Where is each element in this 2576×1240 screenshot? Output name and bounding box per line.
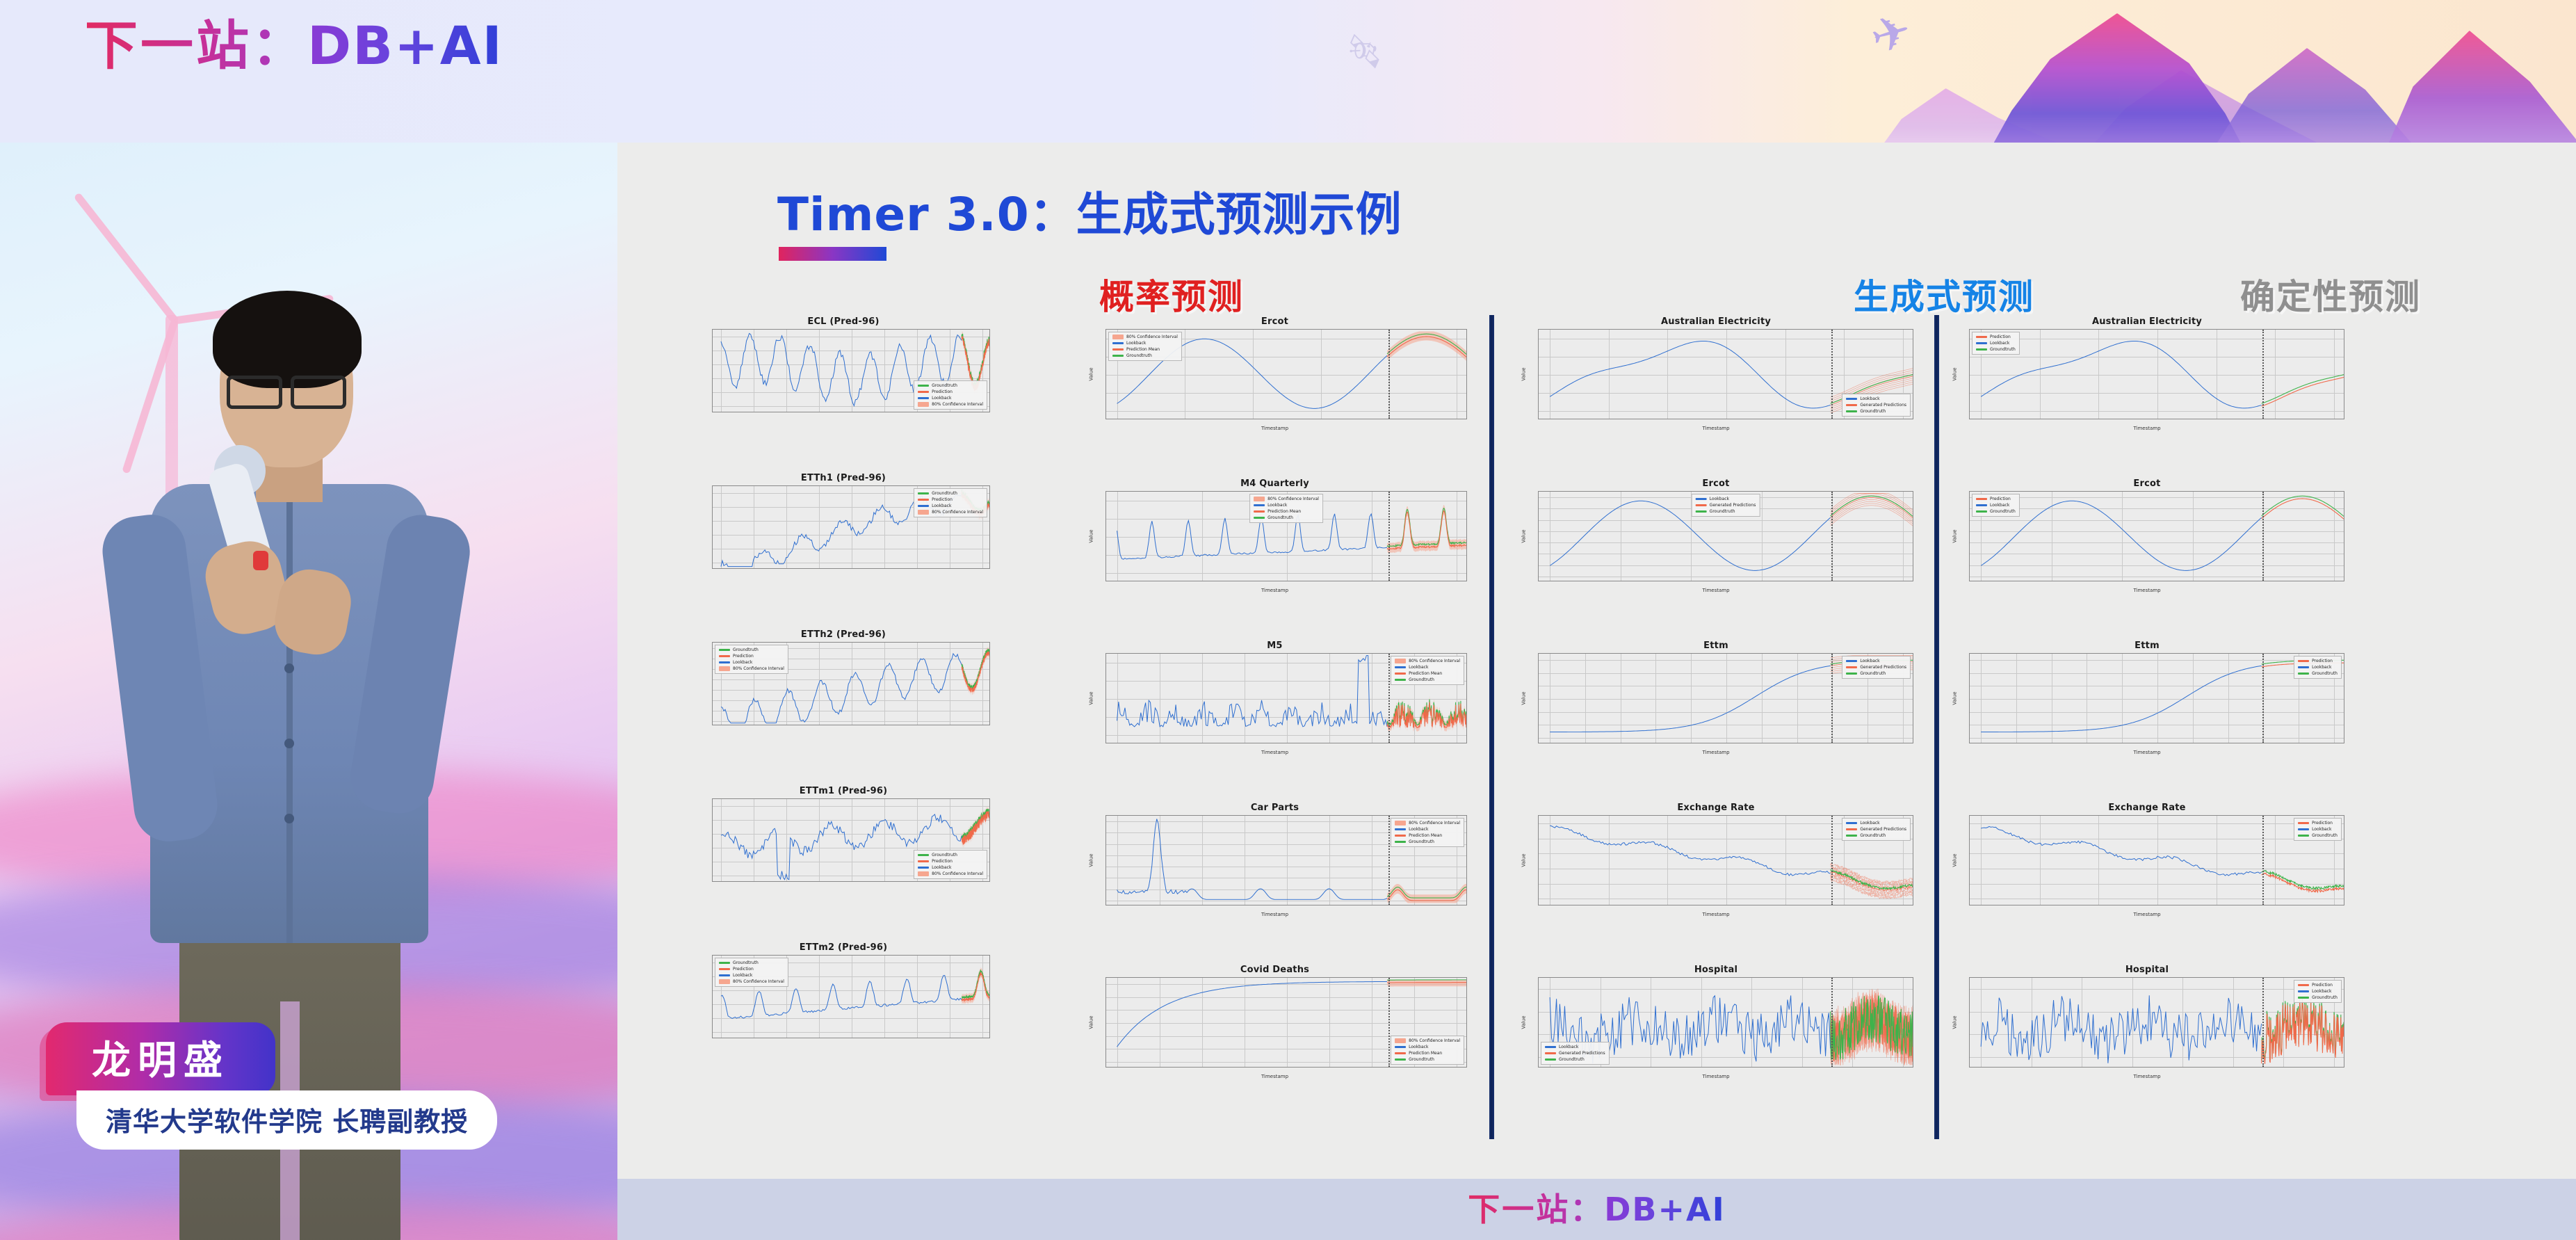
legend-label: Groundtruth [1559, 1057, 1585, 1062]
legend-entry: 80% Confidence Interval [918, 871, 983, 876]
legend-entry: Prediction [1976, 497, 2016, 501]
y-axis-label: Value [1089, 367, 1094, 380]
chart-card: Hospital1015202501-01 0001-01 1201-02 00… [1514, 965, 1918, 1079]
legend-label: Groundtruth [1860, 833, 1886, 838]
legend-entry: Groundtruth [1696, 509, 1756, 514]
legend-swatch [1976, 348, 1987, 351]
legend-entry: Prediction Mean [1112, 347, 1178, 352]
forecast-cutoff-line [2262, 330, 2264, 419]
chart-card: ECL (Pred-96)250027503000325035003750020… [694, 316, 993, 419]
legend-swatch [1112, 342, 1124, 344]
legend-swatch [2298, 997, 2309, 999]
legend-entry: Groundtruth [918, 383, 983, 388]
legend-swatch [1696, 510, 1707, 513]
forecast-cutoff-line [2262, 654, 2264, 743]
groundtruth-line [2262, 375, 2344, 403]
mountain-decoration [1988, 13, 2246, 143]
legend-label: Prediction [733, 654, 754, 659]
legend-entry: Lookback [719, 660, 784, 665]
legend-entry: Lookback [2298, 989, 2338, 994]
presentation-slide: Timer 3.0：生成式预测示例 概率预测 生成式预测 确定性预测 ECL (… [617, 143, 2576, 1179]
glasses-icon [227, 376, 346, 403]
lookback-line [1981, 501, 2262, 570]
generated-prediction-line [1831, 864, 1913, 883]
chart-plot-area: 3500400045005000550003-30 0003-30 1203-3… [1969, 329, 2344, 419]
legend-entry: Prediction [2298, 983, 2338, 988]
legend-label: Generated Predictions [1559, 1051, 1605, 1056]
legend-label: Lookback [1409, 665, 1428, 670]
legend-label: Groundtruth [2312, 671, 2338, 676]
legend-entry: Lookback [1976, 341, 2016, 346]
chart-plot-area: 024681012141998-011998-071999-011999-072… [1105, 815, 1467, 905]
legend-swatch [1254, 497, 1265, 501]
chart-title: ETTm2 (Pred-96) [694, 942, 993, 953]
axis-spacer [694, 882, 993, 888]
legend-label: 80% Confidence Interval [932, 871, 983, 876]
chart-legend: 80% Confidence IntervalLookbackPredictio… [1391, 1036, 1464, 1065]
prediction-line [2262, 378, 2344, 406]
y-axis-label: Value [1952, 853, 1958, 867]
legend-entry: Generated Predictions [1846, 827, 1906, 832]
forecast-cutoff-line [2262, 492, 2264, 581]
legend-label: 80% Confidence Interval [733, 666, 784, 671]
legend-entry: Lookback [1846, 396, 1906, 401]
x-axis-label: Timestamp [1945, 750, 2349, 755]
x-axis-label: Timestamp [1082, 750, 1468, 755]
legend-label: 80% Confidence Interval [1409, 659, 1460, 663]
chart-legend: PredictionLookbackGroundtruth [2294, 656, 2342, 679]
chart-title: Hospital [1945, 965, 2349, 975]
x-axis-label: Timestamp [1082, 1074, 1468, 1079]
legend-swatch [1696, 504, 1707, 506]
legend-entry: Groundtruth [1112, 353, 1178, 358]
legend-label: Lookback [1710, 497, 1729, 501]
chart-plot-area: 12000140001600018000200002021-08-272021-… [1105, 329, 1467, 419]
chart-column-prob-ett: ECL (Pred-96)250027503000325035003750020… [694, 316, 993, 1144]
legend-entry: Groundtruth [1395, 1057, 1460, 1062]
prediction-line [2262, 873, 2344, 892]
chart-plot-area: 051015202016-02-152016-03-012016-03-1520… [1105, 653, 1467, 743]
chart-plot-area: 2025303540450200400600800100012001400160… [712, 485, 990, 569]
legend-entry: Prediction Mean [1395, 1051, 1460, 1056]
chart-legend: GroundtruthPredictionLookback80% Confide… [914, 380, 987, 410]
chart-card: Ercot12000140001600018000200002021-08-27… [1082, 316, 1468, 431]
forecast-cutoff-line [1388, 492, 1390, 581]
chart-title: Australian Electricity [1514, 316, 1918, 327]
legend-swatch [1545, 1052, 1556, 1054]
legend-label: Prediction Mean [1409, 671, 1442, 676]
legend-label: Lookback [733, 973, 752, 978]
groundtruth-line [2262, 496, 2344, 516]
chart-legend: 80% Confidence IntervalLookbackPredictio… [1108, 332, 1182, 361]
brand-logo-cn: 下一站： [85, 15, 307, 77]
column-heading-deterministic: 确定性预测 [2240, 269, 2421, 319]
chart-card: Ettm35.037.540.042.545.047.550.006-24 21… [1945, 641, 2349, 755]
x-axis-label: Timestamp [1514, 588, 1918, 593]
legend-swatch [1846, 404, 1857, 406]
chart-legend: GroundtruthPredictionLookback80% Confide… [715, 645, 788, 674]
legend-label: 80% Confidence Interval [1267, 497, 1319, 501]
legend-entry: Lookback [1976, 503, 2016, 508]
chart-plot-area: 5001000150020002500200020042008201220168… [1105, 491, 1467, 581]
legend-entry: Prediction [2298, 821, 2338, 826]
mountain-decoration [2211, 48, 2420, 143]
legend-swatch [719, 661, 730, 663]
y-axis-label: Value [1952, 691, 1958, 704]
satellite-icon: 🛰 [1334, 26, 1398, 90]
axis-spacer [694, 725, 993, 732]
legend-label: Groundtruth [733, 647, 759, 652]
footer-bar: 下一站：DB+AI [617, 1179, 2576, 1240]
chart-series-layer [1970, 492, 2344, 581]
legend-label: 80% Confidence Interval [1409, 821, 1460, 826]
chart-legend: LookbackGenerated PredictionsGroundtruth [1541, 1042, 1610, 1065]
legend-entry: Lookback [918, 865, 983, 870]
legend-swatch [2298, 660, 2309, 662]
y-axis-label: Value [1952, 1015, 1958, 1029]
forecast-cutoff-line [1831, 330, 1833, 419]
legend-label: Prediction Mean [1409, 1051, 1442, 1056]
legend-swatch [719, 962, 730, 964]
legend-swatch [918, 505, 929, 507]
chart-title: Car Parts [1082, 803, 1468, 813]
mountain-decoration [2385, 31, 2576, 143]
legend-swatch [1254, 504, 1265, 506]
chart-series-layer [1970, 978, 2344, 1067]
chart-card: Australian Electricity350040004500500055… [1945, 316, 2349, 431]
chart-legend: LookbackGenerated PredictionsGroundtruth [1842, 656, 1911, 679]
legend-swatch [2298, 828, 2309, 830]
legend-label: Groundtruth [1409, 677, 1434, 682]
chart-title: Ercot [1082, 316, 1468, 327]
chart-title: Exchange Rate [1514, 803, 1918, 813]
chart-legend: LookbackGenerated PredictionsGroundtruth [1842, 818, 1911, 841]
legend-label: Prediction [2312, 659, 2333, 663]
legend-entry: Lookback [918, 396, 983, 401]
legend-entry: Groundtruth [719, 647, 784, 652]
legend-swatch [1395, 1038, 1406, 1043]
title-underline-accent [779, 247, 886, 261]
legend-label: Groundtruth [1267, 515, 1293, 520]
chart-title: ECL (Pred-96) [694, 316, 993, 327]
chart-plot-area: 110012001300140015001600170018002021-08-… [1538, 491, 1913, 581]
lookback-line [1981, 666, 2262, 732]
forecast-cutoff-line [1388, 330, 1390, 419]
legend-swatch [1846, 666, 1857, 668]
legend-swatch [918, 867, 929, 869]
legend-swatch [1395, 666, 1406, 668]
legend-entry: Prediction [719, 967, 784, 972]
y-axis-label: Value [1089, 1015, 1094, 1029]
speaker-hair [213, 291, 362, 388]
chart-title: Australian Electricity [1945, 316, 2349, 327]
chart-legend: PredictionLookbackGroundtruth [2294, 818, 2342, 841]
legend-swatch [1254, 517, 1265, 519]
legend-swatch [2298, 990, 2309, 992]
legend-swatch [1846, 410, 1857, 412]
legend-label: Groundtruth [1860, 671, 1886, 676]
slide-title: Timer 3.0：生成式预测示例 [777, 177, 1402, 244]
chart-plot-area: 110012001300140015001600170018002021-08-… [1969, 491, 2344, 581]
chart-card: M4 Quarterly5001000150020002500200020042… [1082, 478, 1468, 593]
legend-entry: 80% Confidence Interval [1254, 497, 1319, 501]
legend-label: Groundtruth [2312, 995, 2338, 1000]
legend-label: Groundtruth [932, 853, 957, 857]
legend-entry: Generated Predictions [1696, 503, 1756, 508]
legend-label: Prediction Mean [1267, 509, 1301, 514]
legend-label: 80% Confidence Interval [733, 979, 784, 984]
legend-label: Groundtruth [1409, 1057, 1434, 1062]
legend-swatch [1395, 828, 1406, 830]
y-axis-label: Value [1521, 691, 1527, 704]
x-axis-label: Timestamp [1514, 750, 1918, 755]
chart-card: Ettm35.037.540.042.545.047.550.006-24 21… [1514, 641, 1918, 755]
chart-plot-area: 6.696.706.716.726.736.742018-082018-0920… [1538, 815, 1913, 905]
legend-entry: Prediction [1976, 335, 2016, 339]
legend-entry: Prediction [719, 654, 784, 659]
chart-card: Covid Deaths6008001000120014001600180020… [1082, 965, 1468, 1079]
chart-title: Ercot [1514, 478, 1918, 489]
forecast-cutoff-line [2262, 816, 2264, 905]
chart-card: Ercot11001200130014001500160017001800202… [1945, 478, 2349, 593]
legend-entry: Lookback [1696, 497, 1756, 501]
lookback-line [1550, 341, 1831, 408]
chart-plot-area: 6.696.706.716.726.736.742018-082018-0920… [1969, 815, 2344, 905]
x-axis-label: Timestamp [1945, 426, 2349, 431]
event-brand-logo: 下一站：DB+AI [85, 19, 503, 73]
legend-entry: Prediction [918, 389, 983, 394]
legend-entry: Prediction Mean [1254, 509, 1319, 514]
legend-swatch [1976, 504, 1987, 506]
legend-entry: Groundtruth [1846, 833, 1906, 838]
speaker-lower-third: 龙明盛 清华大学软件学院 长聘副教授 [15, 1022, 585, 1148]
chart-plot-area: 35.037.540.042.545.047.550.006-24 2106-2… [1969, 653, 2344, 743]
chart-plot-area: 2530354045505560020040060080010001200140… [712, 642, 990, 725]
legend-entry: Lookback [719, 973, 784, 978]
legend-swatch [719, 666, 730, 671]
chart-title: Ettm [1945, 641, 2349, 651]
legend-swatch [918, 402, 929, 407]
x-axis-label: Timestamp [1514, 1074, 1918, 1079]
footer-brand-logo: 下一站：DB+AI [1468, 1193, 1726, 1225]
forecast-cutoff-line [2262, 978, 2264, 1067]
shirt-placket [286, 484, 293, 943]
forecast-cutoff-line [1831, 654, 1833, 743]
forecast-cutoff-line [1831, 978, 1833, 1067]
chart-legend: LookbackGenerated PredictionsGroundtruth [1692, 494, 1760, 517]
speaker-video-pane: 龙明盛 清华大学软件学院 长聘副教授 [0, 143, 617, 1240]
legend-swatch [1846, 822, 1857, 824]
legend-swatch [1846, 828, 1857, 830]
legend-swatch [719, 655, 730, 657]
chart-card: Ercot11001200130014001500160017001800202… [1514, 478, 1918, 593]
legend-swatch [719, 974, 730, 976]
legend-swatch [1112, 355, 1124, 357]
axis-spacer [694, 412, 993, 419]
legend-label: Prediction [1990, 497, 2011, 501]
chart-column-generative: Australian Electricity350040004500500055… [1514, 316, 1918, 1144]
legend-label: Groundtruth [932, 383, 957, 388]
legend-entry: Groundtruth [1976, 509, 2016, 514]
chart-column-prob-bench: Ercot12000140001600018000200002021-08-27… [1082, 316, 1468, 1144]
x-axis-label: Timestamp [1082, 912, 1468, 917]
chart-title: Exchange Rate [1945, 803, 2349, 813]
legend-swatch [1696, 498, 1707, 500]
legend-swatch [918, 385, 929, 387]
groundtruth-line [2262, 871, 2344, 889]
legend-label: Lookback [733, 660, 752, 665]
legend-label: Lookback [2312, 989, 2331, 994]
chart-column-deterministic: Australian Electricity350040004500500055… [1945, 316, 2349, 1144]
axis-spacer [694, 569, 993, 575]
legend-swatch [2298, 666, 2309, 668]
legend-label: Prediction [2312, 821, 2333, 826]
y-axis-label: Value [1089, 529, 1094, 542]
legend-swatch [1976, 342, 1987, 344]
legend-swatch [1395, 679, 1406, 681]
legend-swatch [2298, 822, 2309, 824]
shirt-button [284, 739, 294, 748]
legend-entry: Lookback [1395, 1045, 1460, 1049]
chart-card: Exchange Rate6.696.706.716.726.736.74201… [1945, 803, 2349, 917]
lookback-line [1550, 666, 1831, 732]
microphone-indicator [253, 551, 268, 570]
chart-title: ETTh2 (Pred-96) [694, 629, 993, 640]
y-axis-label: Value [1521, 529, 1527, 542]
legend-entry: Groundtruth [1846, 671, 1906, 676]
legend-label: Lookback [932, 396, 951, 401]
chart-card: ETTh2 (Pred-96)2530354045505560020040060… [694, 629, 993, 732]
legend-entry: Groundtruth [1395, 677, 1460, 682]
legend-label: Groundtruth [1710, 509, 1735, 514]
event-top-banner: 🛰 ✈ 下一站：DB+AI [0, 0, 2576, 143]
legend-entry: Groundtruth [1976, 347, 2016, 352]
legend-entry: Prediction Mean [1395, 833, 1460, 838]
chart-legend: GroundtruthPredictionLookback80% Confide… [914, 850, 987, 879]
legend-label: Prediction [733, 967, 754, 972]
chart-legend: GroundtruthPredictionLookback80% Confide… [715, 958, 788, 987]
chart-card: Car Parts024681012141998-011998-071999-0… [1082, 803, 1468, 917]
column-heading-probabilistic: 概率预测 [1099, 269, 1244, 319]
legend-label: Lookback [1559, 1045, 1578, 1049]
legend-swatch [2298, 835, 2309, 837]
lookback-line [1117, 981, 1388, 1047]
legend-label: Lookback [1990, 341, 2009, 346]
legend-swatch [1254, 510, 1265, 513]
slide-bottom-padding [617, 1163, 2576, 1180]
legend-swatch [1545, 1046, 1556, 1048]
prediction-line [962, 652, 989, 693]
column-heading-generative: 生成式预测 [1854, 269, 2034, 319]
legend-swatch [1112, 348, 1124, 351]
forecast-cutoff-line [1831, 492, 1833, 581]
legend-entry: Lookback [1254, 503, 1319, 508]
chart-series-layer [1970, 330, 2344, 419]
x-axis-label: Timestamp [1082, 426, 1468, 431]
legend-swatch [918, 510, 929, 515]
legend-swatch [1545, 1058, 1556, 1061]
legend-entry: Prediction Mean [1395, 671, 1460, 676]
chart-card: Australian Electricity350040004500500055… [1514, 316, 1918, 431]
legend-swatch [1395, 1058, 1406, 1061]
lookback-line [1117, 656, 1388, 727]
legend-swatch [1395, 659, 1406, 663]
legend-swatch [719, 979, 730, 984]
legend-label: Groundtruth [1990, 347, 2016, 352]
chart-title: Covid Deaths [1082, 965, 1468, 975]
y-axis-label: Value [1952, 367, 1958, 380]
prediction-line [2262, 499, 2344, 519]
legend-entry: 80% Confidence Interval [719, 666, 784, 671]
legend-label: Lookback [2312, 665, 2331, 670]
chart-card: ETTh1 (Pred-96)2025303540450200400600800… [694, 473, 993, 575]
chart-title: M5 [1082, 641, 1468, 651]
legend-entry: Prediction [2298, 659, 2338, 663]
legend-swatch [1846, 673, 1857, 675]
y-axis-label: Value [1521, 853, 1527, 867]
legend-label: Generated Predictions [1860, 665, 1906, 670]
y-axis-label: Value [1952, 529, 1958, 542]
legend-entry: 80% Confidence Interval [719, 979, 784, 984]
chart-title: ETTm1 (Pred-96) [694, 786, 993, 796]
legend-label: Groundtruth [1409, 839, 1434, 844]
legend-entry: 80% Confidence Interval [1395, 659, 1460, 663]
legend-entry: Lookback [2298, 827, 2338, 832]
legend-swatch [918, 860, 929, 862]
chart-card: Exchange Rate6.696.706.716.726.736.74201… [1514, 803, 1918, 917]
legend-entry: Generated Predictions [1846, 665, 1906, 670]
legend-label: Lookback [1409, 827, 1428, 832]
x-axis-label: Timestamp [1514, 912, 1918, 917]
legend-label: Lookback [1860, 821, 1879, 826]
chart-title: M4 Quarterly [1082, 478, 1468, 489]
x-axis-label: Timestamp [1945, 588, 2349, 593]
legend-entry: Prediction [918, 497, 983, 502]
legend-entry: Groundtruth [918, 491, 983, 496]
lookback-line [1550, 826, 1831, 876]
legend-label: Generated Predictions [1860, 827, 1906, 832]
chart-title: Ercot [1945, 478, 2349, 489]
legend-swatch [918, 499, 929, 501]
legend-label: Groundtruth [932, 491, 957, 496]
legend-swatch [918, 397, 929, 399]
x-axis-label: Timestamp [1514, 426, 1918, 431]
chart-plot-area: 1015202501-01 0001-01 1201-02 0001-02 12… [1969, 977, 2344, 1068]
speaker-name: 龙明盛 [46, 1022, 275, 1095]
chart-card: Hospital1015202501-01 0001-01 1201-02 00… [1945, 965, 2349, 1079]
legend-swatch [1395, 1046, 1406, 1048]
legend-label: Groundtruth [1990, 509, 2016, 514]
screen-root: 🛰 ✈ 下一站：DB+AI [0, 0, 2576, 1240]
footer-brand-cn: 下一站： [1468, 1191, 1604, 1228]
chart-plot-area: 3540455055601000120014001600180020002200… [712, 955, 990, 1038]
legend-entry: 80% Confidence Interval [918, 510, 983, 515]
legend-label: Groundtruth [1860, 409, 1886, 414]
lookback-line [1981, 826, 2262, 876]
legend-entry: Lookback [1395, 827, 1460, 832]
legend-swatch [918, 391, 929, 393]
speaker-affiliation: 清华大学软件学院 长聘副教授 [76, 1090, 497, 1150]
legend-label: Prediction Mean [1126, 347, 1160, 352]
legend-label: 80% Confidence Interval [1126, 335, 1178, 339]
legend-label: Prediction [1990, 335, 2011, 339]
legend-label: Lookback [932, 865, 951, 870]
legend-entry: Lookback [1112, 341, 1178, 346]
legend-entry: 80% Confidence Interval [1395, 1038, 1460, 1043]
legend-entry: Lookback [1846, 821, 1906, 826]
confidence-band [1387, 980, 1466, 987]
shirt-button [284, 814, 294, 823]
